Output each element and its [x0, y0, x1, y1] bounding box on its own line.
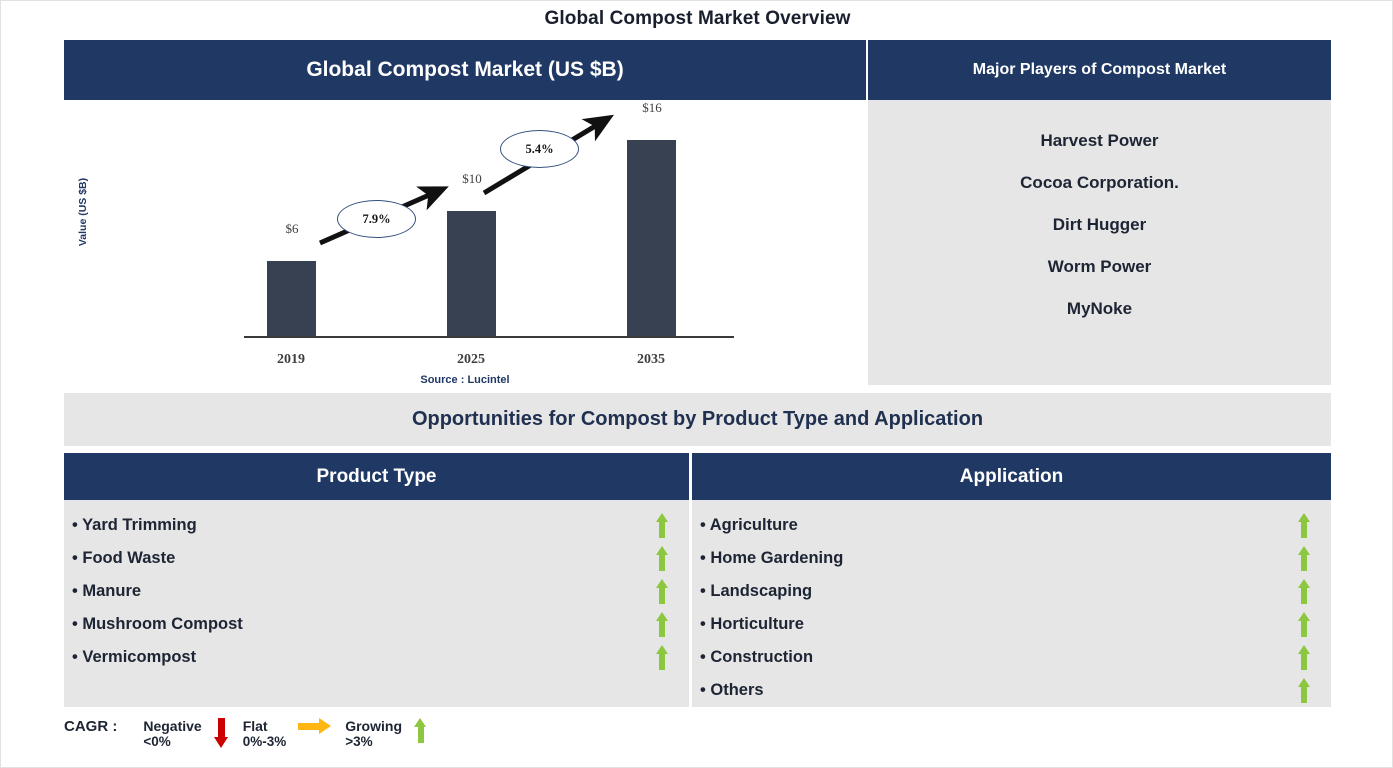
list-item: • Mushroom Compost: [64, 608, 689, 641]
trend-indicator: [649, 612, 675, 637]
infographic-page: Global Compost Market Overview Global Co…: [0, 0, 1393, 768]
legend-item-name: Negative: [143, 718, 201, 734]
legend-item-name: Growing: [345, 718, 402, 734]
list-item: • Landscaping: [692, 575, 1331, 608]
legend-item-negative: Negative <0%: [143, 714, 238, 749]
application-list: • Agriculture • Home Gardening • Landsca…: [692, 500, 1331, 707]
list-item: Cocoa Corporation.: [868, 162, 1331, 204]
arrow-up-green-icon: [656, 579, 669, 604]
arrow-up-green-icon: [656, 612, 669, 637]
legend-item-growing: Growing >3%: [345, 714, 437, 749]
arrow-up-green-icon: [414, 718, 427, 743]
list-item-label: • Yard Trimming: [72, 516, 649, 535]
list-item-label: • Mushroom Compost: [72, 615, 649, 634]
legend-item-text: Negative <0%: [143, 714, 201, 749]
major-players-header: Major Players of Compost Market: [868, 40, 1331, 100]
application-panel: Application • Agriculture • Home Gardeni…: [692, 453, 1331, 707]
list-item: MyNoke: [868, 288, 1331, 330]
arrow-up-green-icon: [1298, 645, 1311, 670]
chart-panel-header: Global Compost Market (US $B): [64, 40, 866, 100]
list-item-label: • Home Gardening: [700, 549, 1291, 568]
trend-indicator: [649, 645, 675, 670]
trend-indicator: [1291, 579, 1317, 604]
opportunities-banner: Opportunities for Compost by Product Typ…: [64, 393, 1331, 446]
arrow-up-green-icon: [1298, 579, 1311, 604]
plot-area: $6 $10 $16 7.9% 5.4% 2019 2025 2035: [244, 100, 734, 385]
list-item-label: • Vermicompost: [72, 648, 649, 667]
application-header: Application: [692, 453, 1331, 500]
product-type-header: Product Type: [64, 453, 689, 500]
growth-arrows: [244, 100, 734, 385]
list-item: • Horticulture: [692, 608, 1331, 641]
bar-chart: Value (US $B) $: [64, 100, 866, 385]
arrow-up-green-icon: [656, 513, 669, 538]
arrow-right-orange-icon: [298, 718, 331, 734]
arrow-up-green-icon: [1298, 546, 1311, 571]
trend-indicator: [1291, 678, 1317, 703]
trend-indicator: [649, 513, 675, 538]
cagr-bubble-2025-2035: 5.4%: [500, 130, 579, 168]
cagr-bubble-2019-2025: 7.9%: [337, 200, 416, 238]
arrow-up-green-icon: [1298, 612, 1311, 637]
list-item: • Manure: [64, 575, 689, 608]
major-players-list: Harvest Power Cocoa Corporation. Dirt Hu…: [868, 100, 1331, 385]
legend-item-text: Growing >3%: [345, 714, 402, 749]
trend-indicator: [649, 579, 675, 604]
trend-indicator: [1291, 513, 1317, 538]
trend-indicator: [1291, 612, 1317, 637]
list-item: • Vermicompost: [64, 641, 689, 674]
list-item-label: • Construction: [700, 648, 1291, 667]
list-item-label: • Agriculture: [700, 516, 1291, 535]
list-item: • Others: [692, 674, 1331, 707]
list-item-label: • Manure: [72, 582, 649, 601]
trend-indicator: [1291, 546, 1317, 571]
product-type-list: • Yard Trimming • Food Waste • Manure • …: [64, 500, 689, 707]
legend-item-text: Flat 0%-3%: [243, 714, 287, 749]
list-item: • Agriculture: [692, 509, 1331, 542]
legend-item-name: Flat: [243, 718, 287, 734]
list-item-label: • Landscaping: [700, 582, 1291, 601]
arrow-up-green-icon: [1298, 513, 1311, 538]
arrow-up-green-icon: [656, 645, 669, 670]
cagr-legend: CAGR : Negative <0% Flat 0%-3% Growing >…: [64, 714, 764, 764]
list-item: Worm Power: [868, 246, 1331, 288]
legend-item-flat: Flat 0%-3%: [243, 714, 342, 749]
list-item: • Construction: [692, 641, 1331, 674]
list-item-label: • Others: [700, 681, 1291, 700]
y-axis-label: Value (US $B): [77, 162, 89, 262]
trend-indicator: [1291, 645, 1317, 670]
trend-indicator: [649, 546, 675, 571]
list-item-label: • Horticulture: [700, 615, 1291, 634]
cagr-legend-title: CAGR :: [64, 714, 117, 735]
list-item: • Home Gardening: [692, 542, 1331, 575]
legend-item-range: >3%: [345, 734, 402, 749]
arrow-down-red-icon: [214, 718, 229, 748]
chart-panel: Global Compost Market (US $B) Value (US …: [64, 40, 866, 385]
list-item: • Food Waste: [64, 542, 689, 575]
list-item: Harvest Power: [868, 120, 1331, 162]
product-type-panel: Product Type • Yard Trimming • Food Wast…: [64, 453, 689, 707]
list-item: • Yard Trimming: [64, 509, 689, 542]
legend-item-range: <0%: [143, 734, 201, 749]
major-players-panel: Major Players of Compost Market Harvest …: [868, 40, 1331, 385]
arrow-up-green-icon: [656, 546, 669, 571]
list-item: Dirt Hugger: [868, 204, 1331, 246]
arrow-up-green-icon: [1298, 678, 1311, 703]
legend-item-range: 0%-3%: [243, 734, 287, 749]
list-item-label: • Food Waste: [72, 549, 649, 568]
page-title: Global Compost Market Overview: [1, 8, 1393, 30]
